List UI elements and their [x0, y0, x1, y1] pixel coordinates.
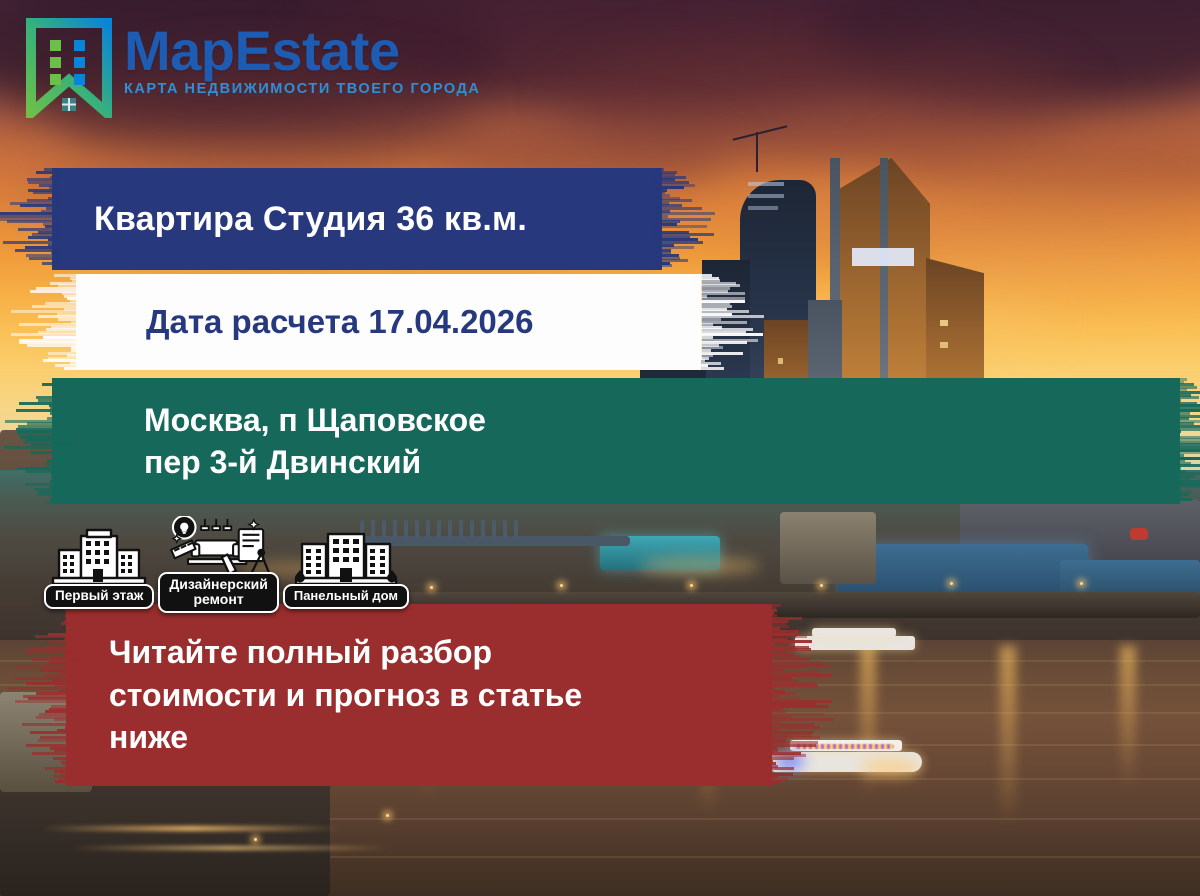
banner-date: Дата расчета 17.04.2026 — [76, 274, 701, 370]
river-boat — [795, 636, 915, 650]
address-block: Москва, п Щаповское пер 3-й Двинский — [52, 399, 1180, 483]
badge-label: Первый этаж — [44, 584, 154, 610]
badge-label: Дизайнерский ремонт — [158, 572, 279, 613]
house-window-icon — [62, 98, 76, 111]
brand-logo[interactable]: MapEstate КАРТА НЕДВИЖИМОСТИ ТВОЕГО ГОРО… — [26, 18, 480, 118]
apartment-building-icon — [51, 528, 147, 590]
banner-cta: Читайте полный разбор стоимости и прогно… — [66, 604, 772, 786]
river-boat — [812, 628, 896, 637]
cta-line-2: стоимости и прогноз в статье — [109, 674, 754, 717]
bookmark-building-icon — [26, 18, 112, 118]
cta-block: Читайте полный разбор стоимости и прогно… — [66, 631, 772, 760]
address-line-1: Москва, п Щаповское — [144, 399, 1180, 441]
calculation-date: Дата расчета 17.04.2026 — [76, 303, 701, 341]
brand-tagline: КАРТА НЕДВИЖИМОСТИ ТВОЕГО ГОРОДА — [124, 81, 480, 97]
property-title: Квартира Студия 36 кв.м. — [52, 200, 662, 239]
banner-address: Москва, п Щаповское пер 3-й Двинский — [52, 378, 1180, 504]
badge-designer-renovation[interactable]: Дизайнерский ремонт — [158, 516, 279, 613]
badge-first-floor[interactable]: Первый этаж — [44, 528, 154, 610]
badge-panel-house[interactable]: Панельный дом — [283, 528, 409, 609]
address-line-2: пер 3-й Двинский — [144, 441, 1180, 483]
feature-badges: Первый этаж — [44, 516, 409, 609]
panel-buildings-icon — [294, 528, 398, 590]
banner-title: Квартира Студия 36 кв.м. — [52, 168, 662, 270]
badge-label: Панельный дом — [283, 584, 409, 609]
interior-design-icon — [160, 516, 278, 578]
cta-line-1: Читайте полный разбор — [109, 631, 754, 674]
cta-line-3: ниже — [109, 716, 754, 759]
poster-canvas: MapEstate КАРТА НЕДВИЖИМОСТИ ТВОЕГО ГОРО… — [0, 0, 1200, 896]
brand-wordmark: MapEstate — [124, 24, 480, 79]
